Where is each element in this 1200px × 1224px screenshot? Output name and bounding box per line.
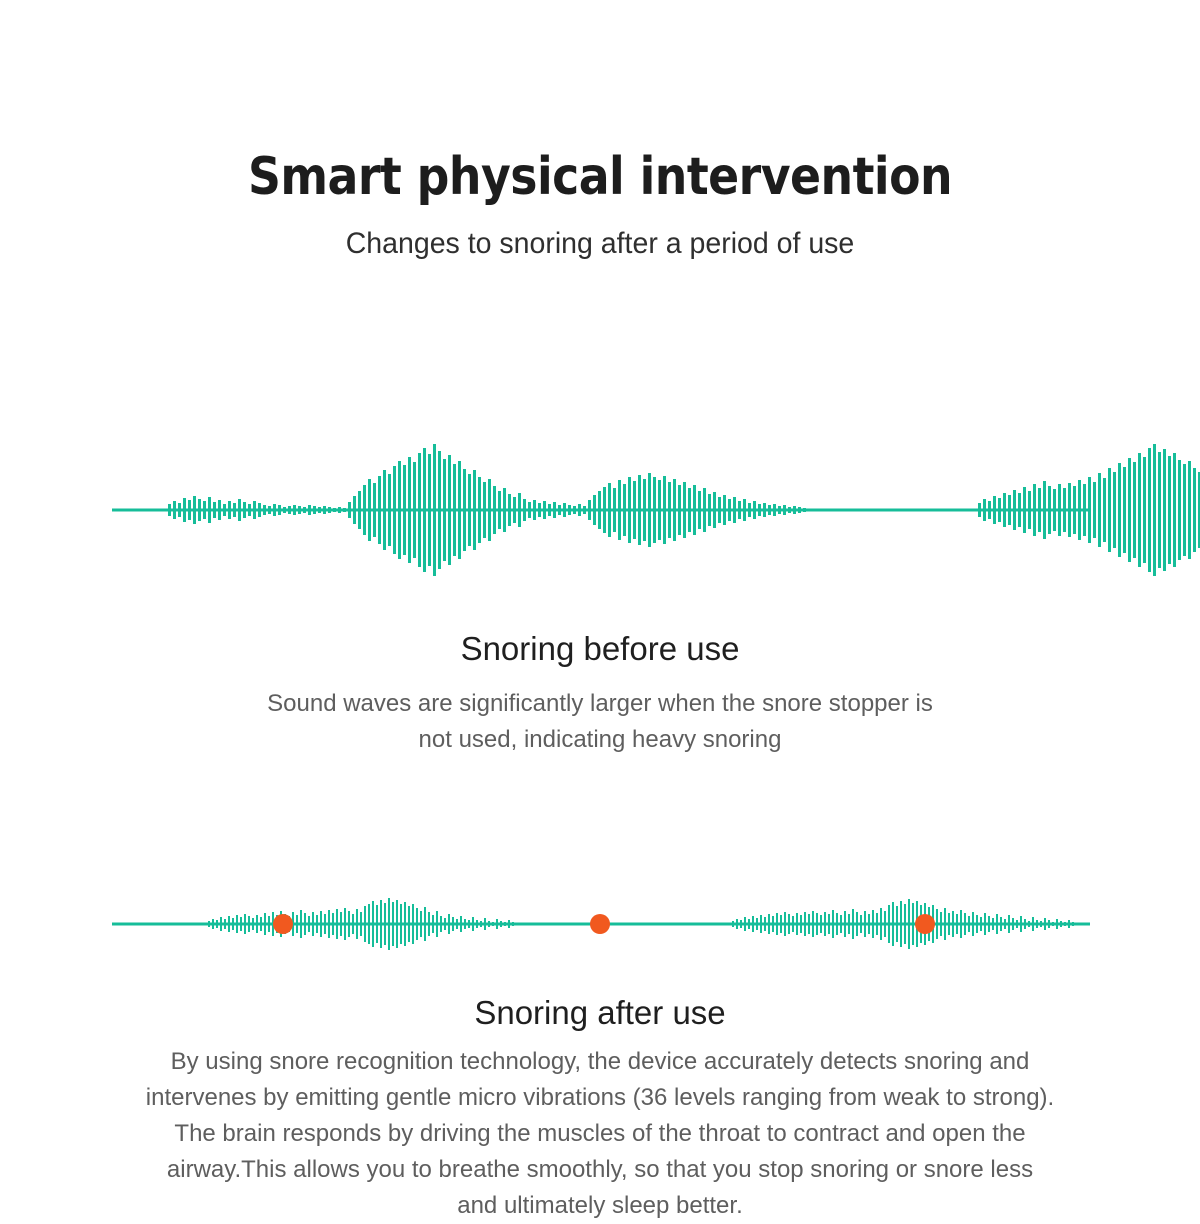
vibration-marker-dot	[273, 914, 293, 934]
waveform-bar	[693, 485, 696, 535]
waveform-bar	[444, 918, 446, 930]
waveform-bar	[308, 916, 310, 932]
waveform-bar	[320, 911, 322, 937]
waveform-bar	[856, 912, 858, 936]
section-heading-before: Snoring before use	[0, 628, 1200, 670]
waveform-bar	[478, 477, 481, 543]
waveform-bar	[488, 921, 490, 927]
waveform-bar	[848, 914, 850, 934]
waveform-bar	[578, 504, 581, 516]
waveform-bar	[220, 917, 222, 931]
waveform-bar	[800, 915, 802, 933]
waveform-bar	[708, 494, 711, 526]
waveform-bar	[348, 502, 351, 518]
waveform-bar	[324, 914, 326, 934]
waveform-bar	[296, 915, 298, 933]
waveform-bar	[440, 916, 442, 932]
waveform-bar	[173, 501, 176, 519]
waveform-bar	[508, 494, 511, 526]
waveform-bar	[376, 905, 378, 943]
waveform-bar	[728, 499, 731, 521]
waveform-bar	[583, 506, 586, 514]
waveform-bar	[398, 461, 401, 559]
waveform-bar	[316, 915, 318, 933]
waveform-bar	[383, 470, 386, 550]
waveform-bar	[1018, 493, 1021, 527]
waveform-bar	[964, 913, 966, 935]
waveform-bar	[760, 915, 762, 933]
waveform-bar	[1068, 920, 1070, 928]
waveform-bar	[880, 908, 882, 940]
waveform-bar	[884, 911, 886, 937]
description-line: Sound waves are significantly larger whe…	[267, 690, 822, 717]
waveform-bar	[780, 915, 782, 933]
waveform-bar	[764, 917, 766, 931]
waveform-bar	[808, 914, 810, 934]
description-line: intervenes by emitting gentle micro vibr…	[65, 1080, 1135, 1116]
waveform-bar	[518, 493, 521, 527]
waveform-bar	[453, 464, 456, 556]
waveform-bar	[438, 451, 441, 569]
description-line: By using snore recognition technology, t…	[65, 1044, 1135, 1080]
waveform-bar	[448, 455, 451, 565]
waveform-bar	[1028, 921, 1030, 927]
waveform-bar	[353, 496, 356, 524]
waveform-bar	[396, 900, 398, 948]
waveform-bar	[412, 904, 414, 944]
waveform-bar	[318, 507, 321, 513]
waveform-bar	[428, 912, 430, 936]
waveform-bar	[996, 914, 998, 934]
waveform-bar	[300, 910, 302, 938]
waveform-bar	[263, 505, 266, 515]
waveform-bar	[796, 913, 798, 935]
waveform-bar	[273, 504, 276, 516]
waveform-bar	[773, 504, 776, 516]
waveform-bar	[452, 917, 454, 931]
waveform-bar	[404, 902, 406, 946]
waveform-bar	[852, 909, 854, 939]
waveform-bar	[423, 448, 426, 572]
waveform-bar	[473, 470, 476, 550]
waveform-bar	[463, 469, 466, 551]
waveform-bar	[533, 500, 536, 520]
waveform-bar	[758, 504, 761, 516]
waveform-bar	[308, 505, 311, 515]
waveform-bar	[508, 920, 510, 928]
waveform-bar	[216, 920, 218, 928]
waveform-bar	[1036, 920, 1038, 928]
waveform-bar	[364, 906, 366, 942]
waveform-bar	[844, 911, 846, 937]
waveform-bar	[356, 909, 358, 939]
waveform-bar	[673, 479, 676, 541]
waveform-bar	[223, 504, 226, 516]
waveform-bar	[400, 904, 402, 944]
waveform-bar	[1193, 468, 1196, 552]
waveform-bar	[824, 912, 826, 936]
waveform-bar	[748, 503, 751, 517]
waveform-bar	[1048, 486, 1051, 534]
waveform-bar	[260, 917, 262, 931]
waveform-bar	[1053, 489, 1056, 531]
waveform-bar	[293, 505, 296, 515]
waveform-bar	[558, 505, 561, 515]
waveform-bar	[788, 914, 790, 934]
waveform-bar	[603, 487, 606, 533]
waveform-bar	[793, 506, 796, 514]
waveform-bar	[433, 444, 436, 576]
waveform-bar	[343, 508, 346, 512]
waveform-bar	[976, 915, 978, 933]
waveform-bar	[488, 479, 491, 541]
waveform-bar	[960, 910, 962, 938]
waveform-bar	[868, 914, 870, 934]
waveform-bar	[713, 492, 716, 528]
waveform-bar	[384, 903, 386, 945]
description-line: airway.This allows you to breathe smooth…	[65, 1152, 1135, 1188]
waveform-bar	[428, 454, 431, 566]
waveform-bar	[208, 497, 211, 523]
waveform-bar	[424, 907, 426, 941]
waveform-bar	[983, 499, 986, 521]
waveform-bar	[912, 903, 914, 945]
waveform-bar	[304, 913, 306, 935]
waveform-bar	[1088, 477, 1091, 543]
waveform-bar	[788, 507, 791, 513]
waveform-bar	[816, 913, 818, 935]
waveform-bar	[512, 922, 514, 926]
waveform-bar	[403, 465, 406, 555]
waveform-bar	[723, 495, 726, 525]
waveform-bar	[688, 488, 691, 532]
waveform-bar	[244, 914, 246, 934]
waveform-bar	[756, 918, 758, 930]
waveform-before-use-svg	[0, 440, 1200, 580]
section-heading-after: Snoring after use	[0, 992, 1200, 1034]
waveform-bar	[313, 506, 316, 514]
waveform-bar	[613, 488, 616, 532]
waveform-bar	[1103, 478, 1106, 542]
waveform-bar	[832, 910, 834, 938]
waveform-bar	[303, 507, 306, 513]
waveform-bar	[500, 921, 502, 927]
waveform-bar	[568, 505, 571, 515]
waveform-bar	[468, 474, 471, 546]
waveform-bar	[1033, 484, 1036, 536]
waveform-bar	[268, 916, 270, 932]
section-description-before: Sound waves are significantly larger whe…	[250, 686, 950, 758]
waveform-bar	[1028, 491, 1031, 529]
waveform-bar	[1064, 922, 1066, 926]
waveform-bar	[468, 920, 470, 928]
waveform-bar	[258, 503, 261, 517]
waveform-bar	[1083, 484, 1086, 536]
waveform-bar	[312, 912, 314, 936]
waveform-bar	[368, 904, 370, 944]
waveform-bar	[738, 501, 741, 519]
waveform-bar	[378, 476, 381, 544]
waveform-bar	[240, 917, 242, 931]
waveform-bar	[480, 921, 482, 927]
waveform-bar	[513, 497, 516, 523]
waveform-bar	[1004, 919, 1006, 929]
waveform-bar	[864, 911, 866, 937]
waveform-bar	[952, 911, 954, 937]
waveform-bar	[812, 911, 814, 937]
waveform-bar	[1063, 488, 1066, 532]
waveform-bar	[504, 922, 506, 926]
waveform-bar	[496, 919, 498, 929]
waveform-bar	[653, 477, 656, 543]
waveform-bar	[218, 500, 221, 520]
waveform-bar	[448, 914, 450, 934]
waveform-bar	[733, 497, 736, 523]
waveform-bar	[980, 917, 982, 931]
waveform-bar	[1016, 920, 1018, 928]
waveform-bar	[283, 507, 286, 513]
waveform-bar	[1148, 448, 1151, 572]
waveform-bar	[772, 916, 774, 932]
waveform-bar	[900, 901, 902, 947]
waveform-bar	[1040, 921, 1042, 927]
waveform-bar	[896, 906, 898, 942]
waveform-bar	[783, 505, 786, 515]
waveform-bar	[598, 491, 601, 529]
waveform-bar	[803, 508, 806, 512]
waveform-bar	[1032, 917, 1034, 931]
waveform-bar	[472, 917, 474, 931]
waveform-bar	[753, 501, 756, 519]
waveform-bar	[804, 912, 806, 936]
page-root: Smart physical intervention Changes to s…	[0, 0, 1200, 1200]
waveform-bar	[908, 899, 910, 949]
waveform-bar	[456, 919, 458, 929]
waveform-bar	[198, 499, 201, 521]
waveform-bar	[678, 485, 681, 535]
waveform-bar	[993, 496, 996, 524]
waveform-bar	[608, 483, 611, 537]
waveform-bar	[860, 915, 862, 933]
waveform-bar	[416, 908, 418, 940]
waveform-bar	[1178, 460, 1181, 560]
waveform-bar	[1108, 468, 1111, 552]
waveform-bar	[344, 908, 346, 940]
waveform-bar	[460, 916, 462, 932]
waveform-bar	[743, 499, 746, 521]
waveform-bar	[1113, 472, 1116, 548]
waveform-bar	[188, 500, 191, 520]
vibration-marker-dot	[590, 914, 610, 934]
waveform-bar	[872, 910, 874, 938]
waveform-bar	[956, 914, 958, 934]
waveform-bar	[288, 506, 291, 514]
waveform-bar	[213, 502, 216, 518]
waveform-bar	[458, 461, 461, 559]
waveform-bar	[212, 919, 214, 929]
waveform-bar	[332, 913, 334, 935]
waveform-bar	[988, 916, 990, 932]
waveform-bar	[388, 898, 390, 950]
waveform-bar	[208, 921, 210, 927]
waveform-bar	[776, 913, 778, 935]
waveform-bar	[538, 503, 541, 517]
waveform-bar	[1038, 488, 1041, 532]
waveform-bar	[338, 507, 341, 513]
waveform-bar	[593, 495, 596, 525]
waveform-bar	[768, 914, 770, 934]
waveform-bar	[1052, 922, 1054, 926]
waveform-bar	[988, 501, 991, 519]
waveform-bar	[736, 919, 738, 929]
waveform-bar	[1143, 457, 1146, 563]
waveform-bar	[228, 501, 231, 519]
waveform-bar	[628, 477, 631, 543]
waveform-bar	[252, 918, 254, 930]
waveform-bar	[408, 906, 410, 942]
waveform-bar	[1020, 916, 1022, 932]
waveform-bar	[820, 915, 822, 933]
waveform-bar	[238, 499, 241, 521]
waveform-bar	[1000, 917, 1002, 931]
waveform-bar	[418, 453, 421, 567]
waveform-bar	[372, 901, 374, 947]
waveform-bar	[1098, 473, 1101, 547]
waveform-bar	[732, 921, 734, 927]
waveform-bar	[573, 506, 576, 514]
waveform-bar	[972, 912, 974, 936]
waveform-bar	[1012, 918, 1014, 930]
waveform-bar	[388, 474, 391, 546]
waveform-bar	[1058, 484, 1061, 536]
waveform-bar	[1008, 915, 1010, 933]
waveform-bar	[340, 912, 342, 936]
waveform-bar	[380, 900, 382, 948]
waveform-bar	[1093, 482, 1096, 538]
waveform-bar	[476, 920, 478, 928]
waveform-bar	[768, 505, 771, 515]
waveform-bar	[232, 918, 234, 930]
waveform-bar	[876, 913, 878, 935]
waveform-bar	[784, 912, 786, 936]
waveform-bar	[484, 918, 486, 930]
waveform-bar	[348, 911, 350, 937]
waveform-bar	[1048, 920, 1050, 928]
waveform-after-use-svg	[0, 886, 1200, 962]
waveform-bar	[363, 485, 366, 535]
waveform-bar	[243, 502, 246, 518]
waveform-bar	[248, 916, 250, 932]
waveform-bar	[178, 503, 181, 517]
header: Smart physical intervention Changes to s…	[0, 0, 1200, 264]
waveform-bar	[492, 922, 494, 926]
waveform-bar	[563, 503, 566, 517]
waveform-bar	[940, 912, 942, 936]
waveform-bar	[892, 902, 894, 946]
section-description-after: By using snore recognition technology, t…	[65, 1044, 1135, 1224]
waveform-bar	[443, 459, 446, 561]
waveform-bar	[268, 506, 271, 514]
waveform-bar	[1068, 483, 1071, 537]
waveform-bar	[548, 504, 551, 516]
waveform-bar	[1158, 452, 1161, 568]
waveform-bar	[748, 919, 750, 929]
waveform-bar	[256, 915, 258, 933]
waveform-bar	[792, 916, 794, 932]
waveform-bar	[948, 913, 950, 935]
waveform-bar	[183, 498, 186, 522]
waveform-bar	[638, 475, 641, 545]
page-title: Smart physical intervention	[72, 146, 1128, 208]
waveform-after-use	[0, 886, 1200, 962]
waveform-bar	[744, 917, 746, 931]
waveform-bar	[1078, 480, 1081, 540]
waveform-bar	[248, 504, 251, 516]
waveform-bar	[420, 911, 422, 937]
waveform-bar	[703, 488, 706, 532]
waveform-bar	[264, 913, 266, 935]
waveform-bar	[1056, 919, 1058, 929]
waveform-bar	[888, 905, 890, 943]
waveform-bar	[253, 501, 256, 519]
waveform-bar	[336, 909, 338, 939]
waveform-bar	[298, 506, 301, 514]
waveform-bar	[984, 913, 986, 935]
waveform-bar	[464, 919, 466, 929]
waveform-bar	[493, 486, 496, 534]
waveform-bar	[168, 504, 171, 516]
waveform-bar	[1023, 487, 1026, 533]
waveform-bar	[523, 499, 526, 521]
waveform-bar	[588, 500, 591, 520]
waveform-bar	[393, 466, 396, 554]
waveform-bar	[836, 913, 838, 935]
waveform-bar	[1188, 461, 1191, 559]
waveform-bar	[798, 507, 801, 513]
waveform-bar	[718, 497, 721, 523]
waveform-bar	[528, 502, 531, 518]
waveform-bar	[1003, 493, 1006, 527]
waveform-bar	[278, 505, 281, 515]
waveform-bar	[648, 473, 651, 547]
waveform-bar	[233, 503, 236, 517]
waveform-bar	[828, 914, 830, 934]
waveform-bar	[193, 496, 196, 524]
waveform-bar	[358, 491, 361, 529]
waveform-bar	[1073, 486, 1076, 534]
waveform-bar	[1168, 456, 1171, 564]
waveform-bar	[1153, 444, 1156, 576]
waveform-bar	[1044, 918, 1046, 930]
waveform-bar	[978, 503, 981, 517]
waveform-bar	[1138, 453, 1141, 567]
waveform-bar	[408, 457, 411, 563]
waveform-bar	[323, 506, 326, 514]
waveform-bar	[543, 501, 546, 519]
waveform-bar	[968, 916, 970, 932]
waveform-bar	[392, 902, 394, 946]
waveform-bar	[618, 480, 621, 540]
waveform-bar	[498, 491, 501, 529]
waveform-bar	[483, 482, 486, 538]
waveform-bar	[333, 508, 336, 512]
waveform-bar	[1043, 481, 1046, 539]
waveform-bar	[944, 908, 946, 940]
waveform-bar	[663, 476, 666, 544]
waveform-bar	[668, 482, 671, 538]
waveform-bar	[1060, 921, 1062, 927]
waveform-bar	[1123, 467, 1126, 553]
